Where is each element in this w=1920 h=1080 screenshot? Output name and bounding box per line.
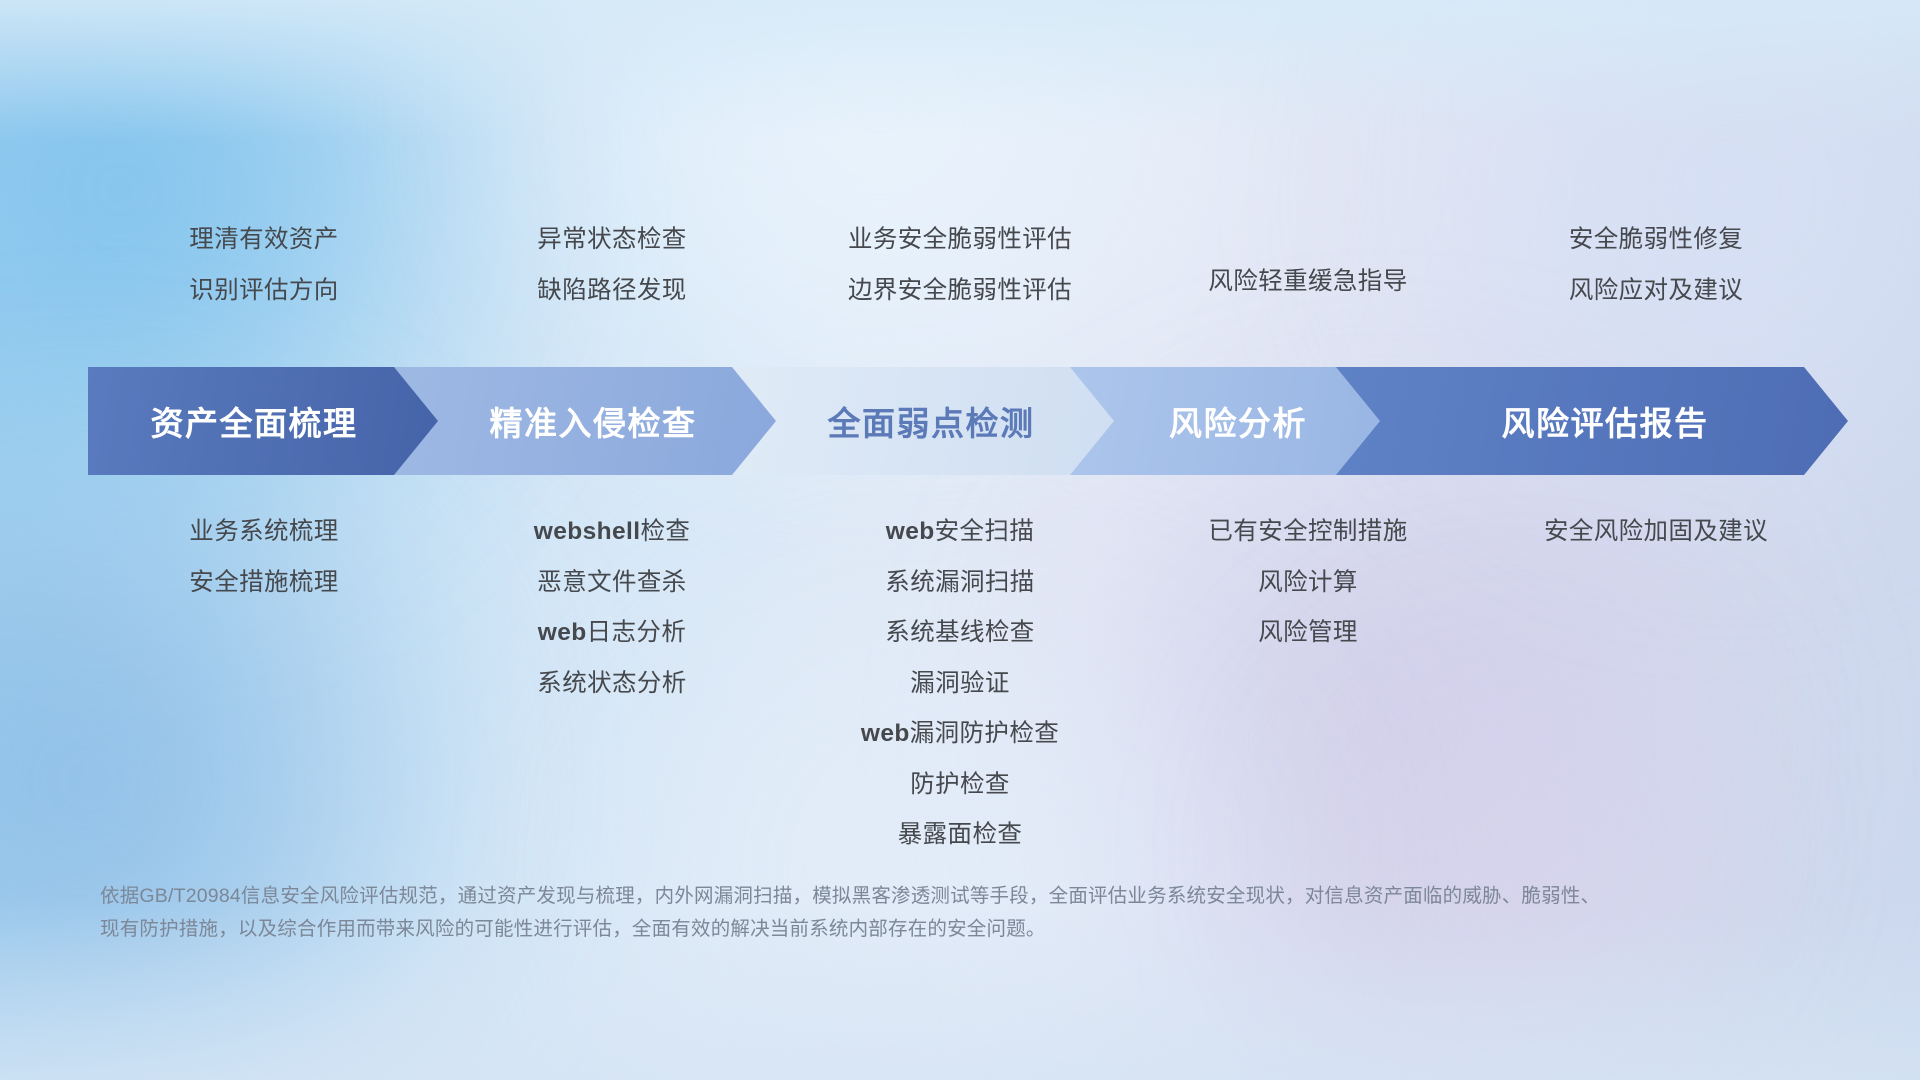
- bottom-caption-column-5: 安全风险加固及建议: [1482, 520, 1830, 545]
- bottom-caption-line: 风险计算: [1258, 571, 1358, 596]
- top-caption-line: 安全脆弱性修复: [1569, 228, 1743, 253]
- top-caption-line: 业务安全脆弱性评估: [848, 228, 1072, 253]
- bottom-caption-line: 系统基线检查: [885, 621, 1034, 646]
- bottom-caption-line: web日志分析: [538, 621, 686, 646]
- stage-chevron-2[interactable]: 精准入侵检查: [384, 367, 776, 475]
- stage-chevron-label: 全面弱点检测: [802, 397, 1035, 445]
- process-diagram: 理清有效资产识别评估方向异常状态检查缺陷路径发现业务安全脆弱性评估边界安全脆弱性…: [0, 0, 1920, 1080]
- bottom-caption-line: 已有安全控制措施: [1208, 520, 1407, 545]
- bottom-caption-column-1: 业务系统梳理安全措施梳理: [90, 520, 438, 595]
- bottom-caption-column-2: webshell检查恶意文件查杀web日志分析系统状态分析: [438, 520, 786, 696]
- stage-chevron-label: 风险分析: [1143, 397, 1307, 445]
- top-caption-line: 风险轻重缓急指导: [1208, 270, 1407, 295]
- top-caption-line: 缺陷路径发现: [537, 279, 686, 304]
- bottom-caption-row: 业务系统梳理安全措施梳理webshell检查恶意文件查杀web日志分析系统状态分…: [90, 520, 1830, 848]
- stage-chevron-1[interactable]: 资产全面梳理: [88, 367, 438, 475]
- bottom-caption-line: 漏洞验证: [910, 672, 1010, 697]
- top-caption-line: 识别评估方向: [189, 279, 338, 304]
- bottom-caption-line: web漏洞防护检查: [861, 722, 1059, 747]
- top-caption-column-1: 理清有效资产识别评估方向: [90, 228, 438, 303]
- bottom-caption-line: webshell检查: [534, 520, 691, 545]
- bottom-caption-line: 防护检查: [910, 773, 1010, 798]
- bottom-caption-line: 风险管理: [1258, 621, 1358, 646]
- bottom-caption-line: 系统状态分析: [537, 672, 686, 697]
- top-caption-line: 风险应对及建议: [1569, 279, 1743, 304]
- top-caption-line: 边界安全脆弱性评估: [848, 279, 1072, 304]
- stage-chevron-label: 资产全面梳理: [151, 397, 376, 445]
- stage-chevron-band: 资产全面梳理精准入侵检查全面弱点检测风险分析风险评估报告: [88, 367, 1848, 475]
- stage-chevron-label: 风险评估报告: [1476, 397, 1709, 445]
- stage-chevron-3[interactable]: 全面弱点检测: [722, 367, 1114, 475]
- footer-description: 依据GB/T20984信息安全风险评估规范，通过资产发现与梳理，内外网漏洞扫描，…: [100, 880, 1610, 946]
- bottom-caption-column-3: web安全扫描系统漏洞扫描系统基线检查漏洞验证web漏洞防护检查防护检查暴露面检…: [786, 520, 1134, 848]
- bottom-caption-line: web安全扫描: [886, 520, 1034, 545]
- top-caption-line: 异常状态检查: [537, 228, 686, 253]
- bottom-caption-line: 恶意文件查杀: [537, 571, 686, 596]
- top-caption-column-2: 异常状态检查缺陷路径发现: [438, 228, 786, 303]
- bottom-caption-line: 暴露面检查: [898, 823, 1023, 848]
- top-caption-row: 理清有效资产识别评估方向异常状态检查缺陷路径发现业务安全脆弱性评估边界安全脆弱性…: [90, 228, 1830, 303]
- top-caption-column-3: 业务安全脆弱性评估边界安全脆弱性评估: [786, 228, 1134, 303]
- bottom-caption-line: 安全风险加固及建议: [1544, 520, 1768, 545]
- top-caption-line: 理清有效资产: [189, 228, 338, 253]
- bottom-caption-line: 安全措施梳理: [189, 571, 338, 596]
- bottom-caption-column-4: 已有安全控制措施风险计算风险管理: [1134, 520, 1482, 646]
- top-caption-column-5: 安全脆弱性修复风险应对及建议: [1482, 228, 1830, 303]
- bottom-caption-line: 业务系统梳理: [189, 520, 338, 545]
- stage-chevron-label: 精准入侵检查: [464, 397, 697, 445]
- stage-chevron-5[interactable]: 风险评估报告: [1336, 367, 1848, 475]
- bottom-caption-line: 系统漏洞扫描: [885, 571, 1034, 596]
- top-caption-column-4: 风险轻重缓急指导: [1134, 228, 1482, 303]
